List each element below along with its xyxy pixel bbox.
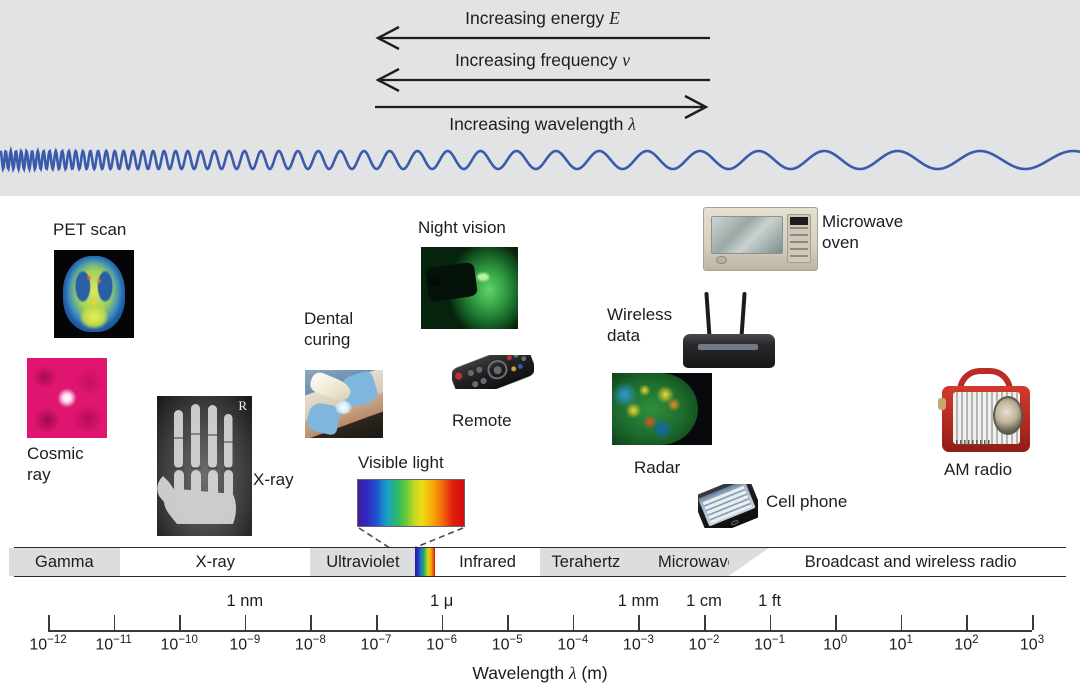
axis-tick-label: 10−6 xyxy=(426,634,457,654)
band-visible-rainbow[interactable] xyxy=(415,548,435,576)
axis-title: Wavelength λ (m) xyxy=(0,663,1080,684)
axis-tick-label: 102 xyxy=(954,634,978,654)
axis-tick-label: 10−7 xyxy=(361,634,392,654)
axis-tick xyxy=(770,615,772,630)
band-transition-wedge xyxy=(729,548,769,576)
energy-arrow: Increasing energy E xyxy=(375,8,710,50)
em-spectrum-figure: Increasing energy E Increasing frequency… xyxy=(0,0,1080,694)
band-terahertz[interactable]: Terahertz xyxy=(540,548,632,576)
axis-tick-label: 10−5 xyxy=(492,634,523,654)
night-vision-image xyxy=(421,247,518,329)
band-label: Broadcast and wireless radio xyxy=(805,553,1017,572)
axis-tick xyxy=(507,615,509,630)
frequency-arrow-line xyxy=(375,50,710,92)
pet-scan-image xyxy=(54,250,134,338)
wireless-data-label: Wireless data xyxy=(607,305,672,346)
axis-tick-label: 100 xyxy=(823,634,847,654)
dental-curing-label: Dental curing xyxy=(304,309,353,350)
x-ray-image: R xyxy=(157,396,252,536)
axis-tick xyxy=(245,615,247,630)
band-label: X-ray xyxy=(196,553,235,572)
band-infrared[interactable]: Infrared xyxy=(435,548,540,576)
frequency-arrow: Increasing frequency ν xyxy=(375,50,710,92)
band-label: Ultraviolet xyxy=(326,553,399,572)
wavelength-arrow-label: Increasing wavelength λ xyxy=(375,114,710,135)
cell-phone-label: Cell phone xyxy=(766,492,847,513)
wireless-data-image xyxy=(683,292,775,370)
x-ray-label: X-ray xyxy=(253,470,294,491)
spectrum-band: GammaX-rayUltravioletInfraredTerahertzMi… xyxy=(14,547,1066,577)
axis-tick xyxy=(442,615,444,630)
unit-marker-1-cm: 1 cm xyxy=(686,592,722,611)
band-label: Terahertz xyxy=(552,553,621,572)
axis-tick-label: 10−10 xyxy=(161,634,198,654)
band-ultraviolet[interactable]: Ultraviolet xyxy=(310,548,415,576)
wavelength-arrow: Increasing wavelength λ xyxy=(375,92,710,136)
axis-tick xyxy=(179,615,181,630)
unit-marker-1-mm: 1 mm xyxy=(618,592,659,611)
axis-tick xyxy=(1032,615,1034,630)
visible-light-label: Visible light xyxy=(358,453,444,474)
unit-marker-1-ft: 1 ft xyxy=(758,592,781,611)
visible-light-image xyxy=(357,479,465,527)
axis-tick xyxy=(48,615,50,630)
wave-graphic xyxy=(0,138,1080,188)
dental-curing-image xyxy=(305,370,383,438)
pet-scan-label: PET scan xyxy=(53,220,126,241)
night-vision-label: Night vision xyxy=(418,218,506,239)
unit-marker-1-nm: 1 nm xyxy=(226,592,263,611)
axis-tick-label: 103 xyxy=(1020,634,1044,654)
axis-tick xyxy=(966,615,968,630)
axis-tick xyxy=(114,615,116,630)
axis-tick-label: 10−1 xyxy=(754,634,785,654)
band-broadcast-and-wireless-radio[interactable]: Broadcast and wireless radio xyxy=(763,548,1058,576)
radar-label: Radar xyxy=(634,458,680,479)
axis-tick xyxy=(573,615,575,630)
axis-tick-label: 10−11 xyxy=(95,634,131,654)
band-label: Gamma xyxy=(35,553,94,572)
band-gamma[interactable]: Gamma xyxy=(9,548,121,576)
x-ray-marker: R xyxy=(238,398,247,414)
radar-image xyxy=(612,373,712,445)
axis-tick-label: 10−9 xyxy=(229,634,260,654)
axis-line xyxy=(48,630,1032,632)
axis-tick xyxy=(638,615,640,630)
axis-tick xyxy=(835,615,837,630)
energy-arrow-line xyxy=(375,8,710,50)
axis-tick-label: 10−4 xyxy=(557,634,588,654)
remote-label: Remote xyxy=(452,411,512,432)
axis-tick xyxy=(376,615,378,630)
axis-tick xyxy=(901,615,903,630)
axis-tick xyxy=(704,615,706,630)
axis-tick-label: 101 xyxy=(889,634,913,654)
cell-phone-image xyxy=(698,484,758,528)
remote-image xyxy=(452,355,534,389)
am-radio-label: AM radio xyxy=(944,460,1012,481)
cosmic-ray-image xyxy=(27,358,107,438)
microwave-oven-label: Microwave oven xyxy=(822,212,903,253)
axis-tick-label: 10−8 xyxy=(295,634,326,654)
unit-marker-1-: 1 μ xyxy=(430,592,453,611)
band-label: Infrared xyxy=(459,553,516,572)
am-radio-image xyxy=(937,368,1035,456)
axis-tick xyxy=(310,615,312,630)
band-x-ray[interactable]: X-ray xyxy=(120,548,310,576)
band-label: Microwave xyxy=(658,553,737,572)
header-panel: Increasing energy E Increasing frequency… xyxy=(0,0,1080,196)
microwave-oven-image xyxy=(703,207,818,271)
cosmic-ray-label: Cosmic ray xyxy=(27,444,84,485)
axis-tick-label: 10−3 xyxy=(623,634,654,654)
axis-tick-label: 10−2 xyxy=(689,634,720,654)
axis-tick-label: 10−12 xyxy=(29,634,66,654)
